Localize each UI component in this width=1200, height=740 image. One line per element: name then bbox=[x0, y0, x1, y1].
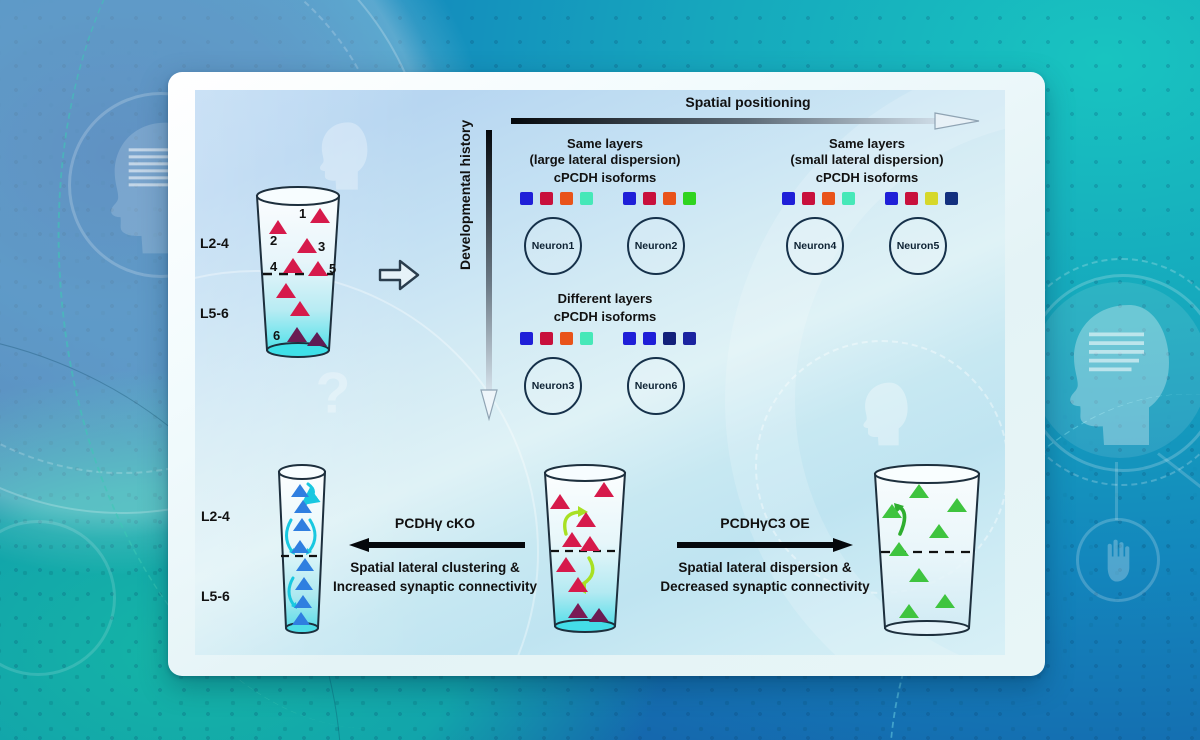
isoform-swatch bbox=[925, 192, 938, 205]
neuron-triangle bbox=[556, 557, 576, 572]
isoform-swatch bbox=[643, 192, 656, 205]
head-silhouette-icon-right bbox=[1048, 300, 1180, 450]
spatial-positioning-label: Spatial positioning bbox=[685, 94, 810, 110]
left-transition-title: PCDHγ cKO bbox=[395, 515, 475, 531]
neuron-triangle bbox=[580, 536, 600, 551]
isoform-swatch bbox=[782, 192, 795, 205]
right-transition-title: PCDHγC3 OE bbox=[720, 515, 809, 531]
neuron-circle-neuron1: Neuron1 bbox=[524, 217, 582, 275]
isoform-swatch bbox=[945, 192, 958, 205]
isoform-swatch bbox=[540, 192, 553, 205]
neuron-triangle bbox=[947, 498, 967, 512]
right-transition-arrow bbox=[677, 538, 853, 552]
neuron-triangle bbox=[568, 577, 588, 592]
neuron-triangle bbox=[308, 261, 328, 276]
group-1-neuron-0-isoform-swatches bbox=[782, 192, 855, 205]
neuron-triangle bbox=[276, 283, 296, 298]
isoform-swatch bbox=[623, 192, 636, 205]
group-1-subtitle: cPCDH isoforms bbox=[816, 170, 919, 185]
beaker-number-3: 3 bbox=[318, 239, 325, 254]
isoform-swatch bbox=[802, 192, 815, 205]
neuron-triangle bbox=[294, 595, 312, 608]
group-2-neuron-1-isoform-swatches bbox=[623, 332, 696, 345]
neuron-circle-neuron5: Neuron5 bbox=[889, 217, 947, 275]
neuron-triangle bbox=[293, 518, 311, 531]
hand-icon bbox=[1094, 534, 1138, 584]
group-1-neuron-1-isoform-swatches bbox=[885, 192, 958, 205]
panel-question-watermark-icon: ? bbox=[307, 362, 359, 426]
top-beaker-layer-upper-label: L2-4 bbox=[200, 235, 229, 251]
neuron-triangle bbox=[310, 208, 330, 223]
spatial-positioning-arrow bbox=[511, 112, 981, 130]
neuron-circle-neuron2: Neuron2 bbox=[627, 217, 685, 275]
group-1-title-line2: (small lateral dispersion) bbox=[790, 152, 943, 167]
neuron-triangle bbox=[568, 603, 588, 618]
node-connector-vertical bbox=[1115, 462, 1118, 520]
figure-card: ? Spatial positioning bbox=[168, 72, 1045, 676]
isoform-swatch bbox=[842, 192, 855, 205]
neuron-triangle bbox=[307, 332, 327, 346]
neuron-triangle bbox=[550, 494, 570, 509]
bottom-middle-beaker bbox=[532, 462, 638, 642]
neuron-triangle bbox=[589, 608, 609, 622]
beaker-number-2: 2 bbox=[270, 233, 277, 248]
group-0-title-line1: Same layers bbox=[567, 136, 643, 151]
group-0-neuron-0-isoform-swatches bbox=[520, 192, 593, 205]
neuron-triangle bbox=[889, 542, 909, 556]
developmental-history-label: Developmental history bbox=[457, 120, 473, 270]
panel-head-watermark-icon-2 bbox=[855, 380, 911, 448]
neuron-triangle bbox=[269, 220, 287, 234]
isoform-swatch bbox=[580, 192, 593, 205]
bottom-left-layer-upper-label: L2-4 bbox=[201, 508, 230, 524]
group-2-subtitle: cPCDH isoforms bbox=[554, 309, 657, 324]
neuron-triangle bbox=[576, 512, 596, 527]
isoform-swatch bbox=[822, 192, 835, 205]
neuron-triangle bbox=[562, 532, 582, 547]
neuron-triangle bbox=[295, 577, 313, 590]
neuron-triangle bbox=[929, 524, 949, 538]
group-2-neuron-0-isoform-swatches bbox=[520, 332, 593, 345]
isoform-swatch bbox=[520, 332, 533, 345]
isoform-swatch bbox=[520, 192, 533, 205]
group-0-neuron-1-isoform-swatches bbox=[623, 192, 696, 205]
isoform-swatch bbox=[663, 332, 676, 345]
neuron-circle-neuron3: Neuron3 bbox=[524, 357, 582, 415]
group-1-title-line1: Same layers bbox=[829, 136, 905, 151]
isoform-swatch bbox=[580, 332, 593, 345]
figure-panel: ? Spatial positioning bbox=[195, 90, 1005, 655]
left-transition-caption-line1: Spatial lateral clustering & bbox=[350, 560, 520, 575]
beaker-number-4: 4 bbox=[270, 259, 277, 274]
isoform-swatch bbox=[540, 332, 553, 345]
isoform-swatch bbox=[905, 192, 918, 205]
neuron-triangle bbox=[292, 612, 310, 625]
group-0-title-line2: (large lateral dispersion) bbox=[530, 152, 681, 167]
group-2-title-line1: Different layers bbox=[558, 291, 653, 306]
isoform-swatch bbox=[643, 332, 656, 345]
neuron-triangle bbox=[909, 568, 929, 582]
neuron-triangle bbox=[291, 484, 309, 497]
neuron-triangle bbox=[296, 558, 314, 571]
neuron-triangle bbox=[935, 594, 955, 608]
isoform-swatch bbox=[623, 332, 636, 345]
left-transition-arrow bbox=[349, 538, 525, 552]
developmental-history-arrow bbox=[480, 130, 498, 420]
top-beaker-layer-lower-label: L5-6 bbox=[200, 305, 229, 321]
neuron-circle-neuron6: Neuron6 bbox=[627, 357, 685, 415]
isoform-swatch bbox=[560, 332, 573, 345]
isoform-swatch bbox=[683, 192, 696, 205]
left-transition-caption-line2: Increased synaptic connectivity bbox=[333, 579, 537, 594]
beaker-number-5: 5 bbox=[329, 261, 336, 276]
neuron-triangle bbox=[287, 327, 307, 342]
neuron-circle-neuron4: Neuron4 bbox=[786, 217, 844, 275]
neuron-triangle bbox=[290, 301, 310, 316]
svg-text:?: ? bbox=[316, 362, 351, 426]
bottom-left-beaker bbox=[267, 462, 337, 642]
neuron-triangle bbox=[291, 540, 309, 553]
neuron-triangle bbox=[882, 504, 902, 518]
top-beaker: 1 2 3 4 5 6 bbox=[243, 182, 353, 367]
isoform-swatch bbox=[663, 192, 676, 205]
isoform-swatch bbox=[683, 332, 696, 345]
beaker-number-1: 1 bbox=[299, 206, 306, 221]
neuron-triangle bbox=[594, 482, 614, 497]
isoform-swatch bbox=[560, 192, 573, 205]
isoform-swatch bbox=[885, 192, 898, 205]
neuron-triangle bbox=[909, 484, 929, 498]
beaker-number-6: 6 bbox=[273, 328, 280, 343]
neuron-triangle bbox=[294, 500, 312, 513]
neuron-triangle bbox=[297, 238, 317, 253]
right-transition-caption-line2: Decreased synaptic connectivity bbox=[660, 579, 869, 594]
group-0-subtitle: cPCDH isoforms bbox=[554, 170, 657, 185]
neuron-triangle bbox=[899, 604, 919, 618]
bottom-right-beaker bbox=[867, 462, 987, 642]
neuron-triangle bbox=[283, 258, 303, 273]
bottom-left-layer-lower-label: L5-6 bbox=[201, 588, 230, 604]
right-transition-caption-line1: Spatial lateral dispersion & bbox=[678, 560, 851, 575]
block-arrow-right-icon bbox=[378, 258, 420, 292]
figure-stage: ? Spatial positioning bbox=[0, 0, 1200, 740]
